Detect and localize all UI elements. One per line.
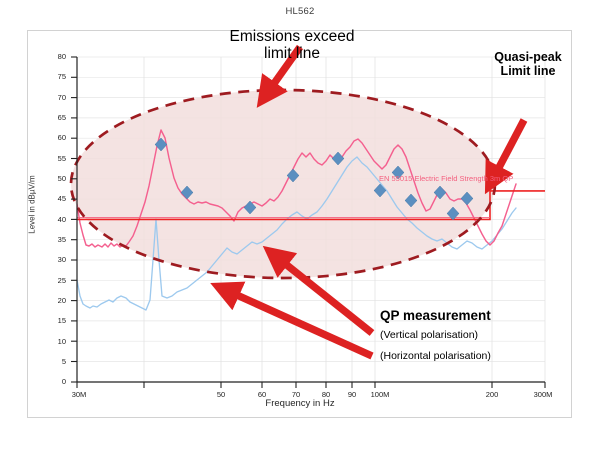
callout-emissions-exceed-line2: limit line — [230, 45, 355, 62]
callout-emissions-exceed: Emissions exceed limit line — [230, 28, 355, 63]
x-tick-label: 300M — [534, 390, 553, 399]
callout-quasipeak-line2: Limit line — [494, 64, 561, 78]
chart-screenshot: HL562 — [0, 0, 600, 450]
y-tick-label: 15 — [44, 316, 66, 325]
y-tick-label: 55 — [44, 154, 66, 163]
x-tick-label: 200 — [486, 390, 499, 399]
callout-quasipeak-limit: Quasi-peak Limit line — [494, 50, 561, 78]
y-tick-label: 80 — [44, 52, 66, 61]
y-axis-title: Level in dBµV/m — [28, 145, 37, 265]
y-tick-label: 75 — [44, 72, 66, 81]
y-tick-label: 20 — [44, 296, 66, 305]
x-tick-label: 30M — [72, 390, 87, 399]
callout-qp-vertical-polarisation: (Vertical polarisation) — [380, 330, 478, 342]
y-tick-label: 65 — [44, 113, 66, 122]
y-tick-label: 70 — [44, 93, 66, 102]
x-axis-title: Frequency in Hz — [150, 398, 450, 409]
y-tick-label: 60 — [44, 133, 66, 142]
callout-quasipeak-line1: Quasi-peak — [494, 50, 561, 64]
y-tick-label: 40 — [44, 215, 66, 224]
y-tick-label: 30 — [44, 255, 66, 264]
limit-line-label: EN 55015 Electric Field Strength 3m QP — [379, 174, 513, 183]
y-tick-label: 25 — [44, 276, 66, 285]
y-axis-ticks — [71, 57, 77, 382]
y-tick-label: 35 — [44, 235, 66, 244]
y-tick-label: 45 — [44, 194, 66, 203]
callout-emissions-exceed-line1: Emissions exceed — [230, 28, 355, 45]
callout-qp-measurement-title: QP measurement — [380, 308, 491, 323]
y-tick-label: 50 — [44, 174, 66, 183]
x-axis-ticks — [77, 382, 545, 388]
callout-qp-horizontal-polarisation: (Horizontal polarisation) — [380, 351, 491, 363]
y-tick-label: 10 — [44, 337, 66, 346]
y-tick-label: 5 — [44, 357, 66, 366]
y-tick-label: 0 — [44, 377, 66, 386]
